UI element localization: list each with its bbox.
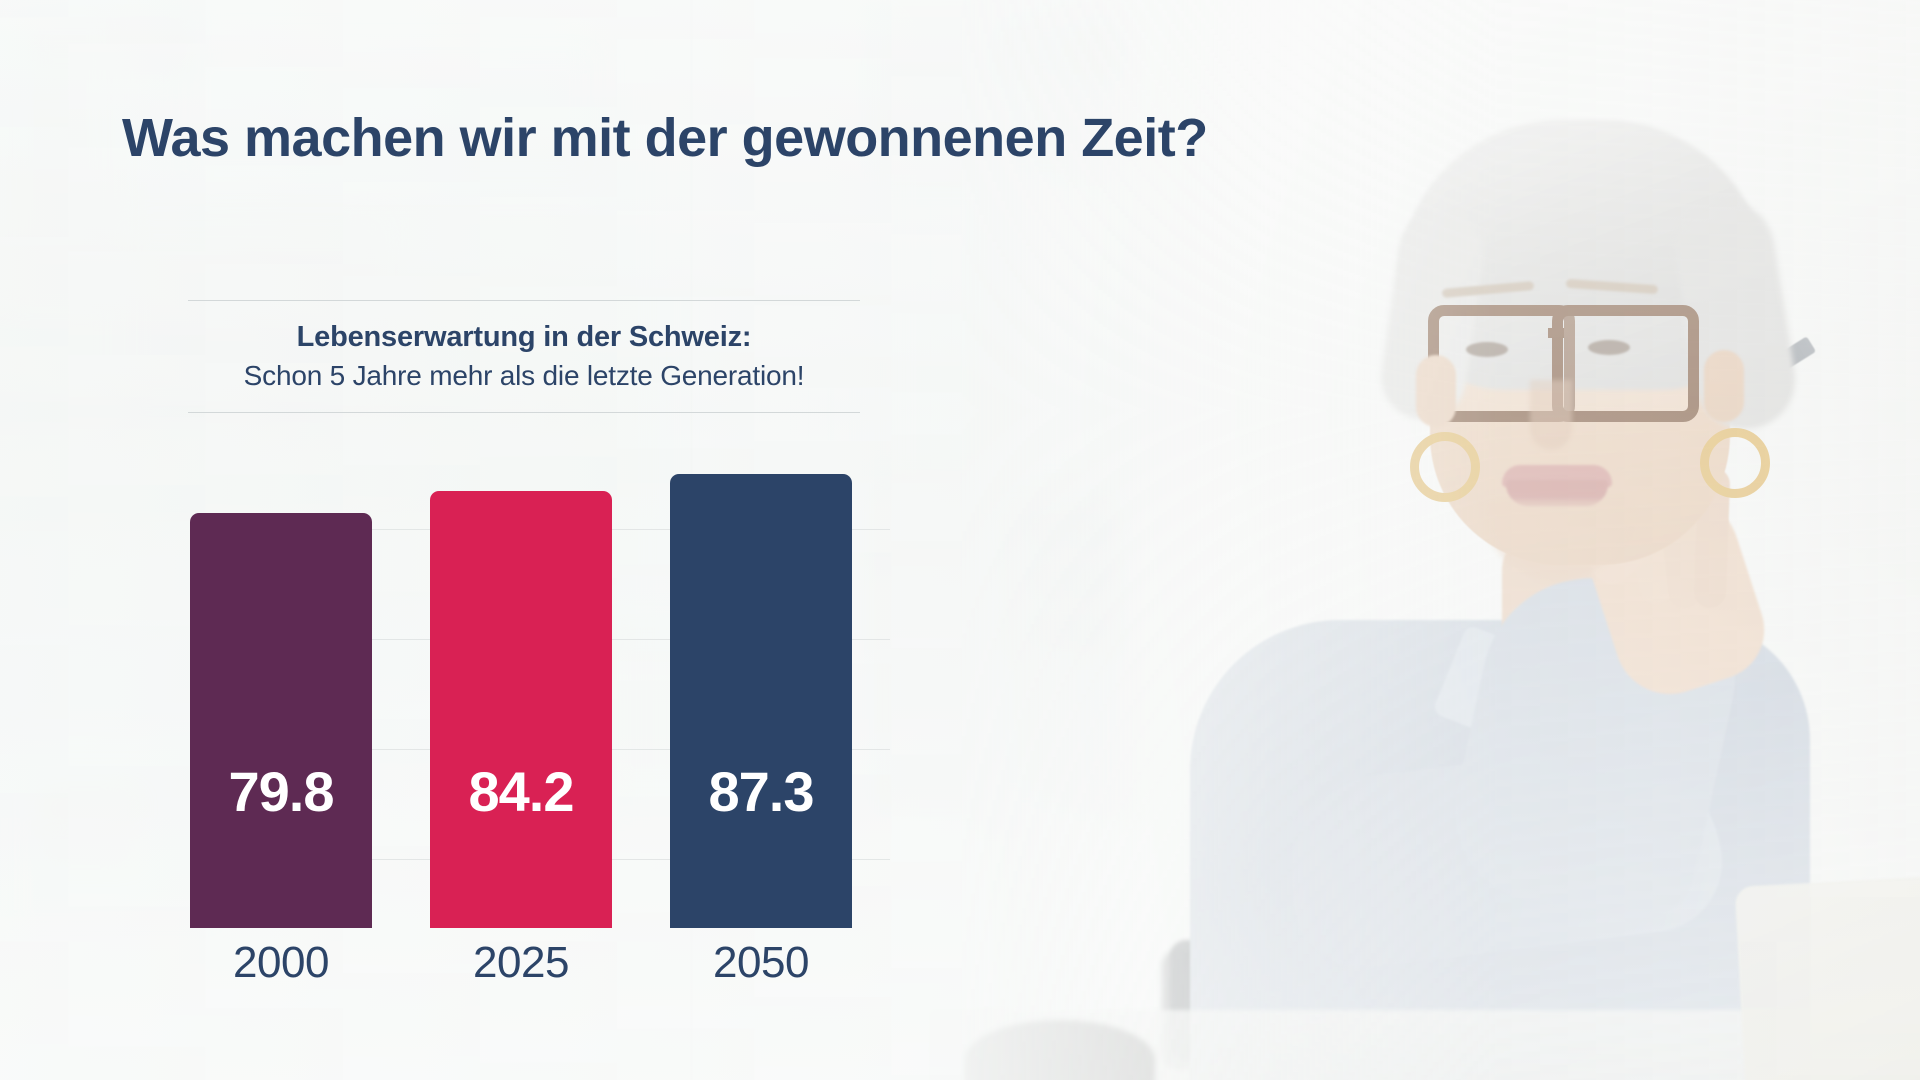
slide-content: Was machen wir mit der gewonnenen Zeit? … [0,0,1920,1080]
bar-2050[interactable]: 87.3 [670,474,852,928]
x-axis-label-2050: 2050 [670,938,852,988]
bar-chart: 79.8 84.2 87.3 2000 2025 2050 [150,450,910,1010]
bar-value-label: 79.8 [229,764,334,820]
caption-heading: Lebenserwartung in der Schweiz: [188,301,860,360]
chart-plot-area: 79.8 84.2 87.3 [190,450,890,928]
chart-caption-block: Lebenserwartung in der Schweiz: Schon 5 … [188,300,860,413]
bar-2025[interactable]: 84.2 [430,491,612,928]
page-title: Was machen wir mit der gewonnenen Zeit? [122,107,1208,169]
caption-subheading: Schon 5 Jahre mehr als die letzte Genera… [188,360,860,412]
bar-value-label: 87.3 [709,764,814,820]
x-axis-label-2025: 2025 [430,938,612,988]
caption-rule-bottom [188,412,860,413]
chart-x-axis-labels: 2000 2025 2050 [190,938,890,988]
bar-value-label: 84.2 [469,764,574,820]
bar-column: 87.3 [670,474,852,928]
bar-column: 84.2 [430,491,612,928]
chart-bars: 79.8 84.2 87.3 [190,450,890,928]
bar-2000[interactable]: 79.8 [190,513,372,928]
bar-column: 79.8 [190,513,372,928]
x-axis-label-2000: 2000 [190,938,372,988]
